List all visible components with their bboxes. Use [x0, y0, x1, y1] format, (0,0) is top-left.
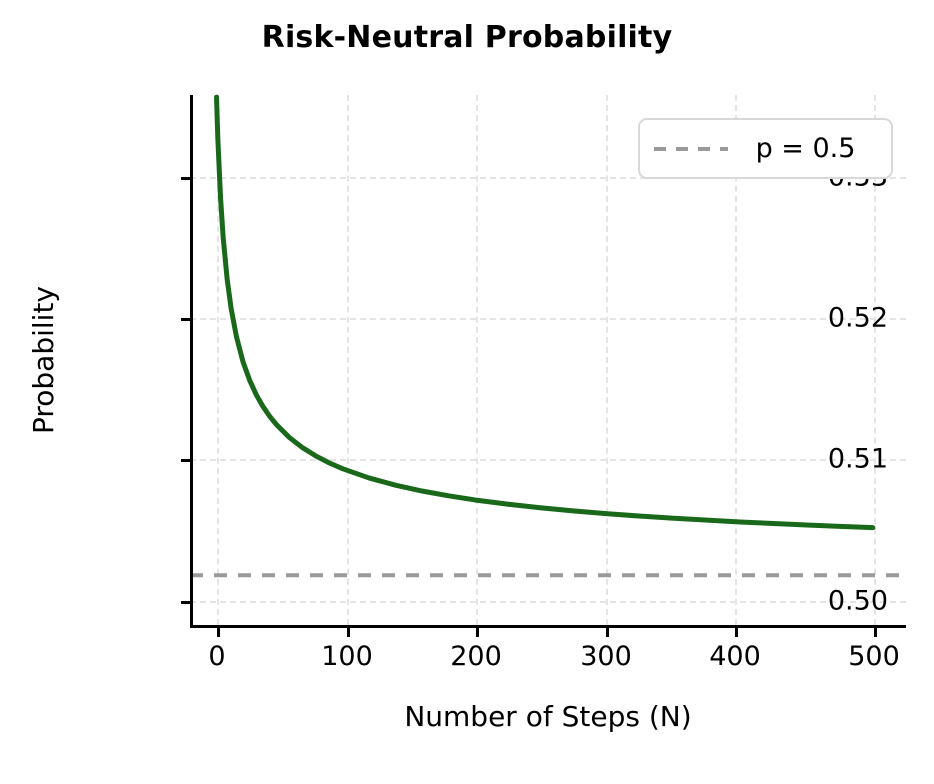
tick-x-0: [217, 628, 220, 637]
ticklabel-x-100: 100: [321, 641, 373, 672]
ticklabel-y-0.52: 0.52: [828, 303, 888, 334]
ticklabel-x-300: 300: [580, 641, 632, 672]
tick-y-0.53: [181, 177, 190, 180]
x-axis-label: Number of Steps (N): [190, 700, 906, 733]
legend-line-sample: [654, 146, 728, 152]
legend-box: p = 0.5: [638, 118, 893, 179]
legend-label-p-half: p = 0.5: [728, 133, 877, 164]
tick-x-400: [735, 628, 738, 637]
ticklabel-x-500: 500: [848, 641, 900, 672]
axis-spine-left: [190, 95, 193, 625]
tick-y-0.52: [181, 318, 190, 321]
axis-spine-bottom: [190, 625, 906, 628]
tick-x-500: [874, 628, 877, 637]
tick-x-100: [347, 628, 350, 637]
ticklabel-y-0.50: 0.50: [828, 586, 888, 617]
y-axis-label: Probability: [22, 95, 66, 625]
tick-x-300: [606, 628, 609, 637]
chart-figure: Risk-Neutral Probability 0 100 200: [0, 0, 934, 784]
ticklabel-x-0: 0: [208, 641, 225, 672]
tick-x-200: [476, 628, 479, 637]
tick-y-0.50: [181, 601, 190, 604]
ticklabel-x-400: 400: [709, 641, 761, 672]
chart-title: Risk-Neutral Probability: [0, 20, 934, 55]
ticklabel-y-0.51: 0.51: [828, 444, 888, 475]
ticklabel-x-200: 200: [450, 641, 502, 672]
tick-y-0.51: [181, 459, 190, 462]
